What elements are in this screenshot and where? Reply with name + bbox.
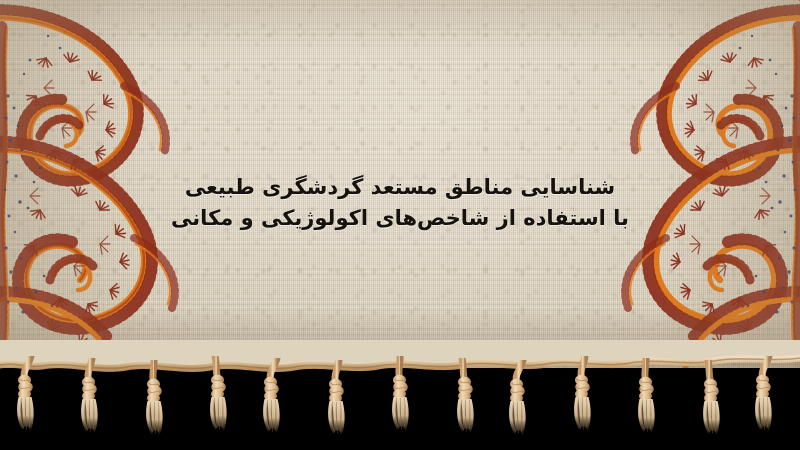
tassel	[14, 356, 48, 442]
tassel	[506, 360, 540, 446]
tassel	[568, 356, 602, 442]
title-line-1: شناسایی مناطق مستعد گردشگری طبیعی	[0, 172, 800, 203]
tassel	[198, 356, 232, 442]
tassel	[383, 356, 417, 442]
slide-title: شناسایی مناطق مستعد گردشگری طبیعی با است…	[0, 172, 800, 234]
tassel	[629, 358, 663, 444]
tassel	[260, 358, 294, 444]
tassel	[75, 358, 109, 444]
title-line-2: با استفاده از شاخص‌های اکولوژیکی و مکانی	[0, 203, 800, 234]
slide-canvas: شناسایی مناطق مستعد گردشگری طبیعی با است…	[0, 0, 800, 450]
tassel	[445, 358, 479, 444]
tassel	[752, 356, 786, 442]
tassel	[137, 360, 171, 446]
tassel	[322, 360, 356, 446]
tassel	[691, 360, 725, 446]
